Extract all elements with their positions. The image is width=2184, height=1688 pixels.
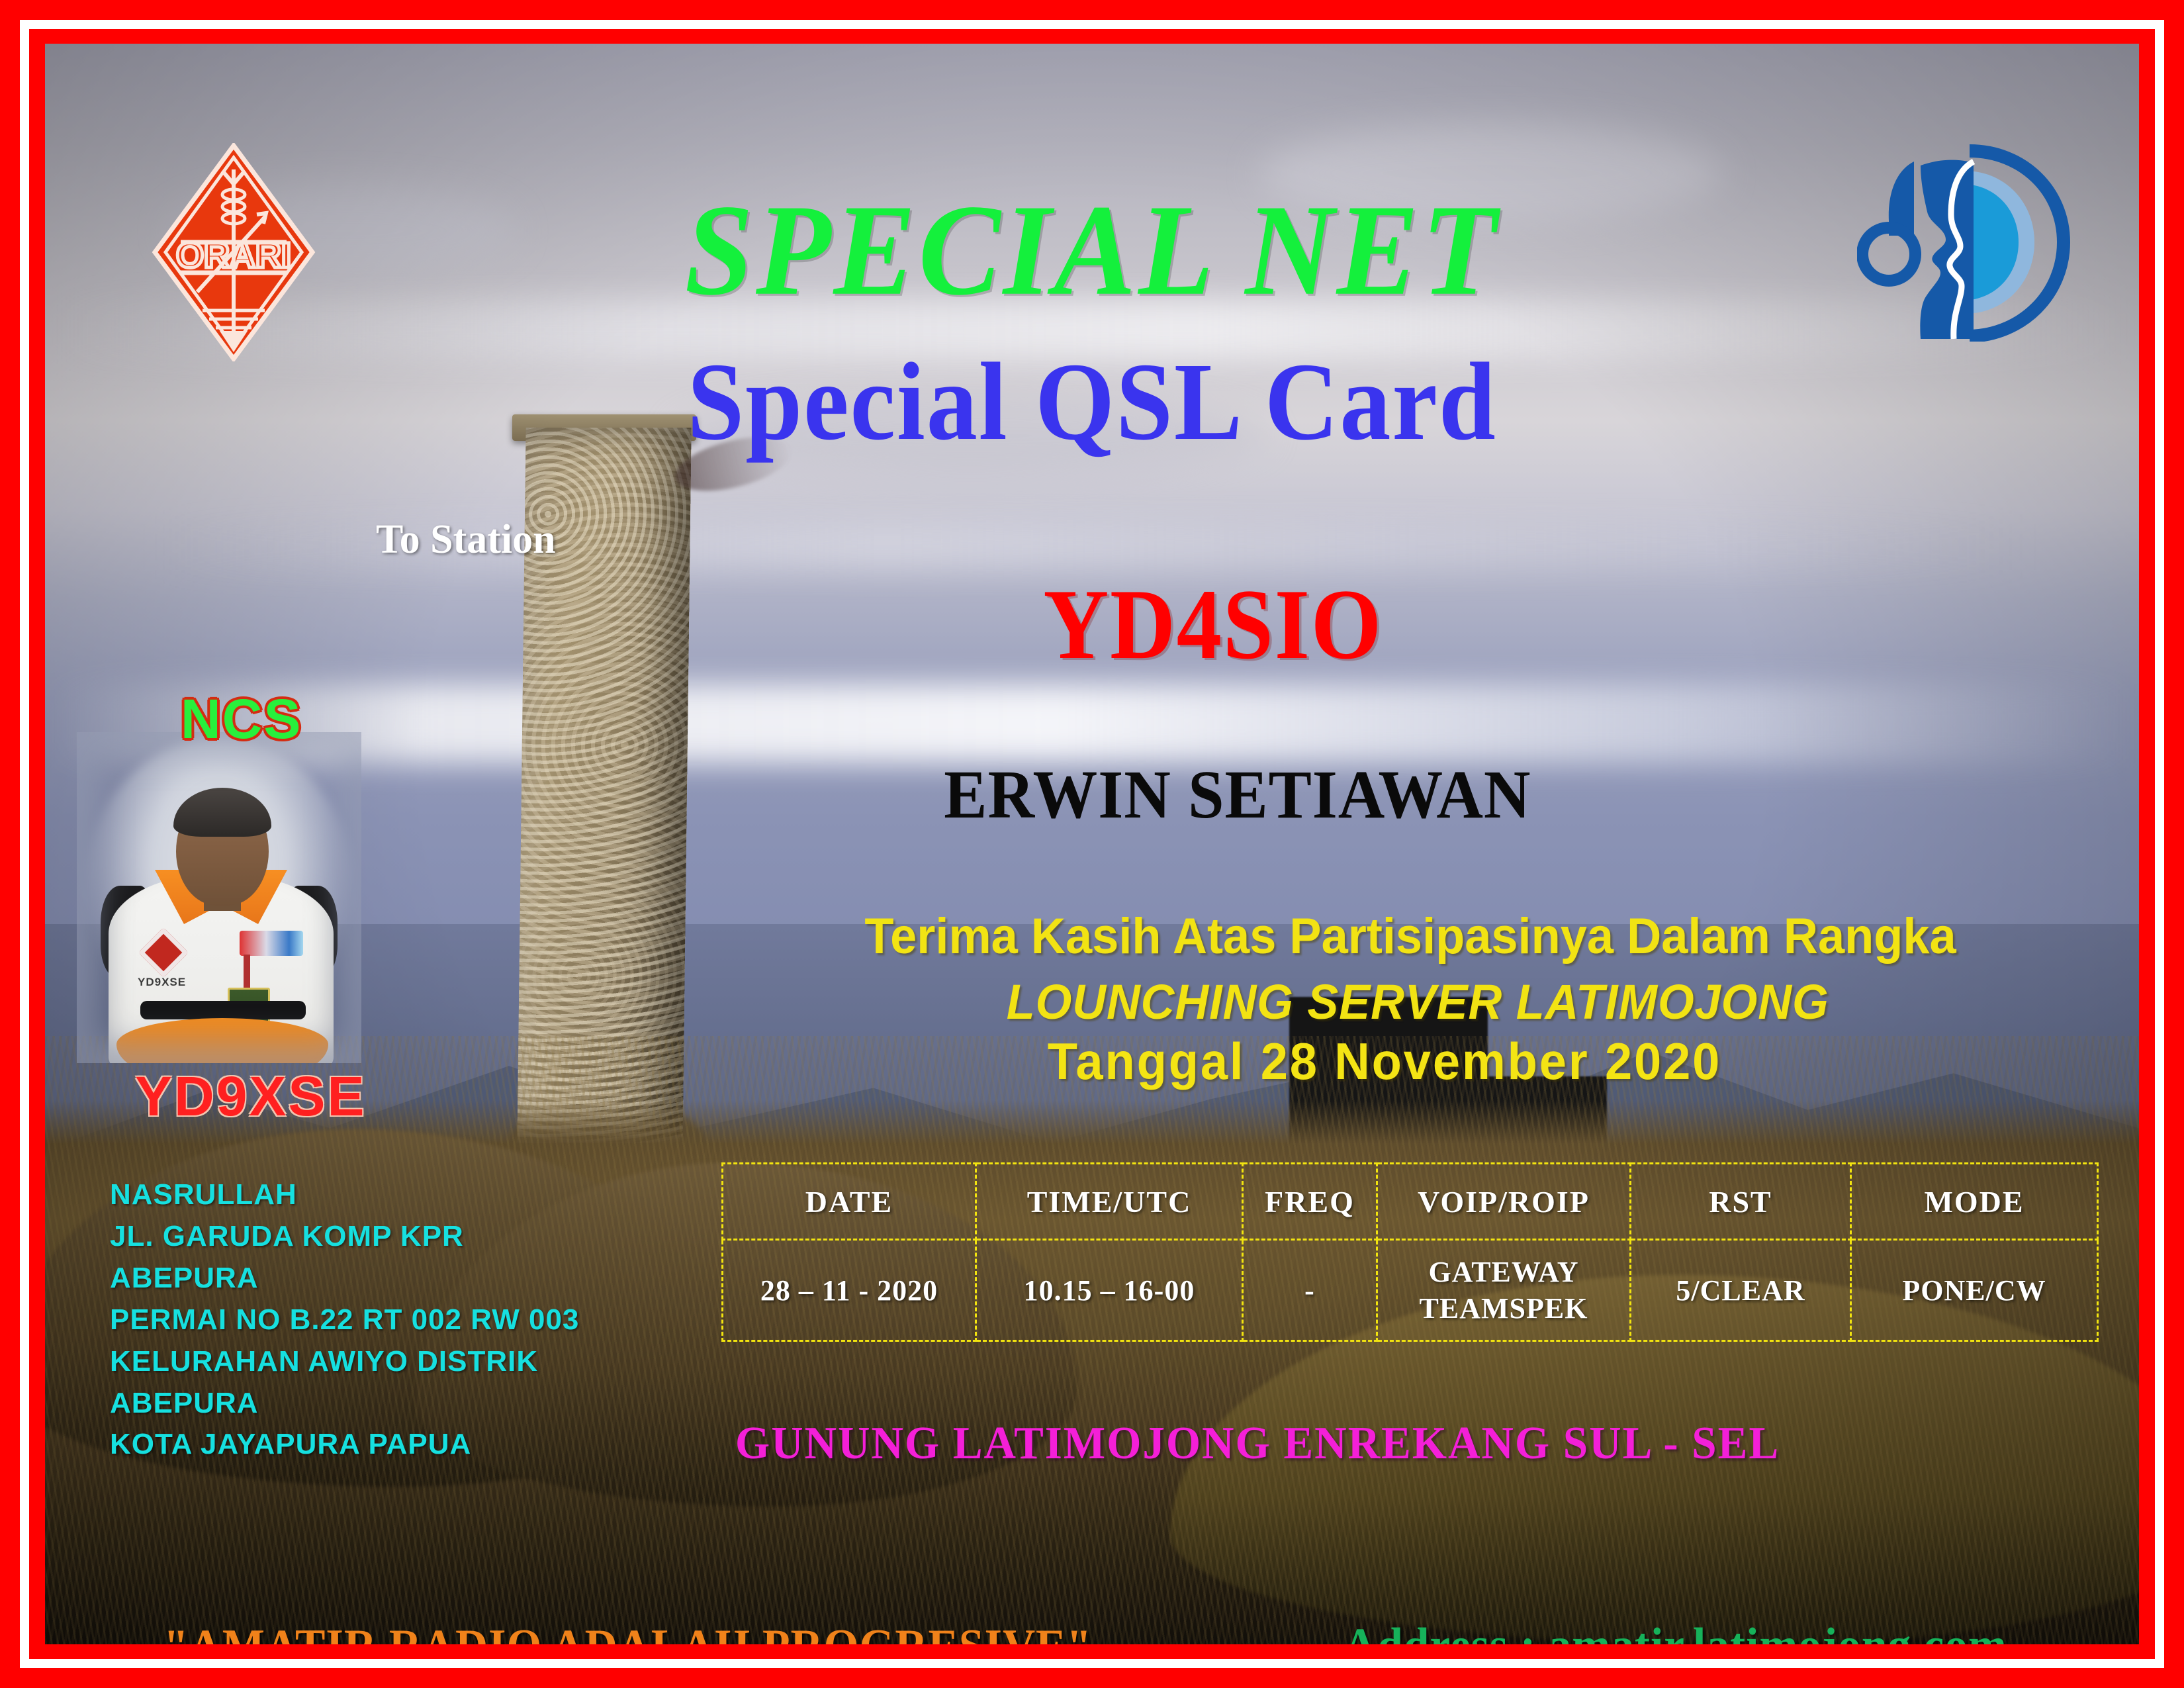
qso-log-table: DATE TIME/UTC FREQ VOIP/ROIP RST MODE 28… <box>721 1162 2099 1342</box>
page-subtitle-special-qsl-card: Special QSL Card <box>129 338 2056 466</box>
photo-callsign-embroidery: YD9XSE <box>138 976 186 989</box>
cell-voip: GATEWAY TEAMSPEK <box>1377 1240 1631 1341</box>
column-header-freq: FREQ <box>1243 1164 1377 1240</box>
address-line: ABEPURA <box>110 1383 579 1425</box>
table-header-row: DATE TIME/UTC FREQ VOIP/ROIP RST MODE <box>723 1164 2098 1240</box>
footer-motto: "AMATIR RADIO ADALAH PROGRESIVE" <box>163 1619 1092 1644</box>
ncs-callsign: YD9XSE <box>135 1064 367 1129</box>
qsl-card: ORARI YD9XSE <box>0 0 2184 1688</box>
column-header-rst: RST <box>1631 1164 1851 1240</box>
venue-location: GUNUNG LATIMOJONG ENREKANG SUL - SEL <box>735 1417 1780 1470</box>
address-line: JL. GARUDA KOMP KPR <box>110 1216 579 1258</box>
footer-web-address: Address : amatir.latimojong.com <box>1343 1618 2007 1644</box>
column-header-voip: VOIP/ROIP <box>1377 1164 1631 1240</box>
ncs-label: NCS <box>181 687 302 751</box>
thanks-line-2-event: LOUNCHING SERVER LATIMOJONG <box>1007 974 1829 1030</box>
thanks-line-3-date: Tanggal 28 November 2020 <box>1048 1031 1721 1092</box>
column-header-mode: MODE <box>1851 1164 2098 1240</box>
cell-mode: PONE/CW <box>1851 1240 2098 1341</box>
cell-date: 28 – 11 - 2020 <box>723 1240 976 1341</box>
cell-rst: 5/CLEAR <box>1631 1240 1851 1341</box>
card-canvas: ORARI YD9XSE <box>45 44 2139 1644</box>
ncs-operator-photo: YD9XSE <box>77 732 361 1063</box>
photo-lanyard <box>244 955 250 989</box>
recipient-callsign: YD4SIO <box>1043 567 1383 682</box>
cloud-haze-2 <box>45 524 2139 570</box>
to-station-label: To Station <box>376 516 556 563</box>
cell-voip-line1: GATEWAY <box>1378 1254 1629 1290</box>
photo-chest-logo <box>240 931 303 956</box>
cell-voip-line2: TEAMSPEK <box>1378 1290 1629 1327</box>
address-line: KELURAHAN AWIYO DISTRIK <box>110 1341 579 1383</box>
thanks-line-1: Terima Kasih Atas Partisipasinya Dalam R… <box>864 908 1956 965</box>
cell-freq: - <box>1243 1240 1377 1341</box>
address-line: ABEPURA <box>110 1258 579 1299</box>
photo-belt <box>140 1001 306 1019</box>
address-line: PERMAI NO B.22 RT 002 RW 003 <box>110 1299 579 1341</box>
operator-name: ERWIN SETIAWAN <box>944 755 1531 834</box>
ncs-address-block: NASRULLAH JL. GARUDA KOMP KPR ABEPURA PE… <box>110 1174 579 1466</box>
address-line: KOTA JAYAPURA PAPUA <box>110 1424 579 1466</box>
table-row: 28 – 11 - 2020 10.15 – 16-00 - GATEWAY T… <box>723 1240 2098 1341</box>
page-title-special-net: SPECIAL NET <box>45 175 2139 326</box>
column-header-date: DATE <box>723 1164 976 1240</box>
column-header-time: TIME/UTC <box>976 1164 1243 1240</box>
cell-time: 10.15 – 16-00 <box>976 1240 1243 1341</box>
address-line: NASRULLAH <box>110 1174 579 1216</box>
